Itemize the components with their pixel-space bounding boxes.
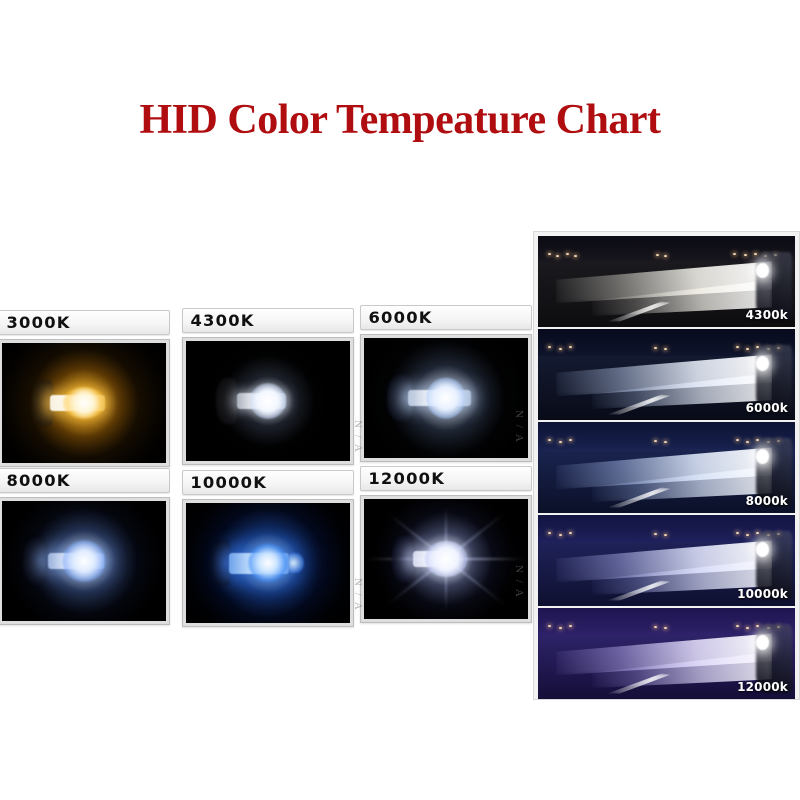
- bulb-arc-core: [63, 387, 106, 418]
- watermark-text: N / A: [352, 578, 364, 612]
- beam-label-text: 8000k: [746, 494, 788, 508]
- bulb-panel-3000k[interactable]: 3000K: [0, 310, 170, 467]
- city-lights: [538, 435, 795, 446]
- bulb-base-shape: [392, 536, 413, 582]
- bulb-label-text: 4300K: [182, 313, 254, 329]
- city-lights: [538, 621, 795, 632]
- bulb-panel-8000k[interactable]: 8000K: [0, 468, 170, 625]
- bulb-photo-frame: [360, 495, 532, 623]
- bulb-photo-8000k: [2, 501, 166, 621]
- beam-comparison-column: 4300k 6000k: [533, 231, 800, 700]
- beam-photo-12000k[interactable]: 12000k: [538, 608, 795, 699]
- bulb-label-text: 8000K: [0, 473, 71, 489]
- watermark-text: N / A: [513, 565, 525, 599]
- hid-color-temperature-chart-page: HID Color Tempeature Chart 3000K 4300K: [0, 0, 800, 800]
- bulb-photo-frame: [360, 334, 532, 462]
- beam-photo-8000k[interactable]: 8000k: [538, 422, 795, 513]
- beam-photo-4300k[interactable]: 4300k: [538, 236, 795, 327]
- bulb-photo-frame: [0, 339, 170, 467]
- bulb-panel-10000k[interactable]: 10000K: [182, 470, 354, 627]
- watermark-text: N / A: [352, 420, 364, 454]
- bulb-tip-shape: [289, 553, 304, 572]
- bulb-label-text: 10000K: [182, 475, 267, 491]
- bulb-arc-core: [250, 383, 286, 419]
- bulb-label-bar: 8000K: [0, 468, 170, 493]
- bulb-photo-10000k: [186, 503, 350, 623]
- bulb-photo-6000k: [364, 338, 528, 458]
- beam-photo-10000k[interactable]: 10000k: [538, 515, 795, 606]
- bulb-panel-6000k[interactable]: 6000K: [360, 305, 532, 462]
- bulb-label-bar: 3000K: [0, 310, 170, 335]
- city-lights: [538, 528, 795, 539]
- city-lights: [538, 249, 795, 260]
- city-lights: [538, 342, 795, 353]
- bulb-label-text: 12000K: [360, 471, 445, 487]
- bulb-arc-core: [426, 378, 465, 419]
- bulb-photo-12000k: [364, 499, 528, 619]
- bulb-base-shape: [211, 540, 231, 586]
- beam-label-text: 4300k: [746, 308, 788, 322]
- bulb-photo-4300k: [186, 341, 350, 461]
- bulb-label-bar: 10000K: [182, 470, 354, 495]
- bulb-arc-core: [425, 541, 468, 577]
- bulb-panel-12000k[interactable]: 12000K: [360, 466, 532, 623]
- bulb-label-text: 6000K: [360, 310, 432, 326]
- bulb-photo-grid: 3000K 4300K: [2, 307, 534, 637]
- bulb-base-shape: [23, 538, 44, 584]
- beam-label-text: 12000k: [737, 680, 788, 694]
- bulb-base-shape: [216, 378, 237, 424]
- bulb-photo-frame: [0, 497, 170, 625]
- beam-label-text: 10000k: [737, 587, 788, 601]
- page-title: HID Color Tempeature Chart: [0, 96, 800, 144]
- bulb-label-bar: 4300K: [182, 308, 354, 333]
- bulb-label-bar: 6000K: [360, 305, 532, 330]
- bulb-label-bar: 12000K: [360, 466, 532, 491]
- bulb-arc-core: [63, 541, 106, 582]
- bulb-label-text: 3000K: [0, 315, 71, 331]
- bulb-photo-3000k: [2, 343, 166, 463]
- bulb-photo-frame: [182, 337, 354, 465]
- bulb-photo-frame: [182, 499, 354, 627]
- bulb-panel-4300k[interactable]: 4300K: [182, 308, 354, 465]
- beam-label-text: 6000k: [746, 401, 788, 415]
- watermark-text: N / A: [513, 410, 525, 444]
- beam-photo-6000k[interactable]: 6000k: [538, 329, 795, 420]
